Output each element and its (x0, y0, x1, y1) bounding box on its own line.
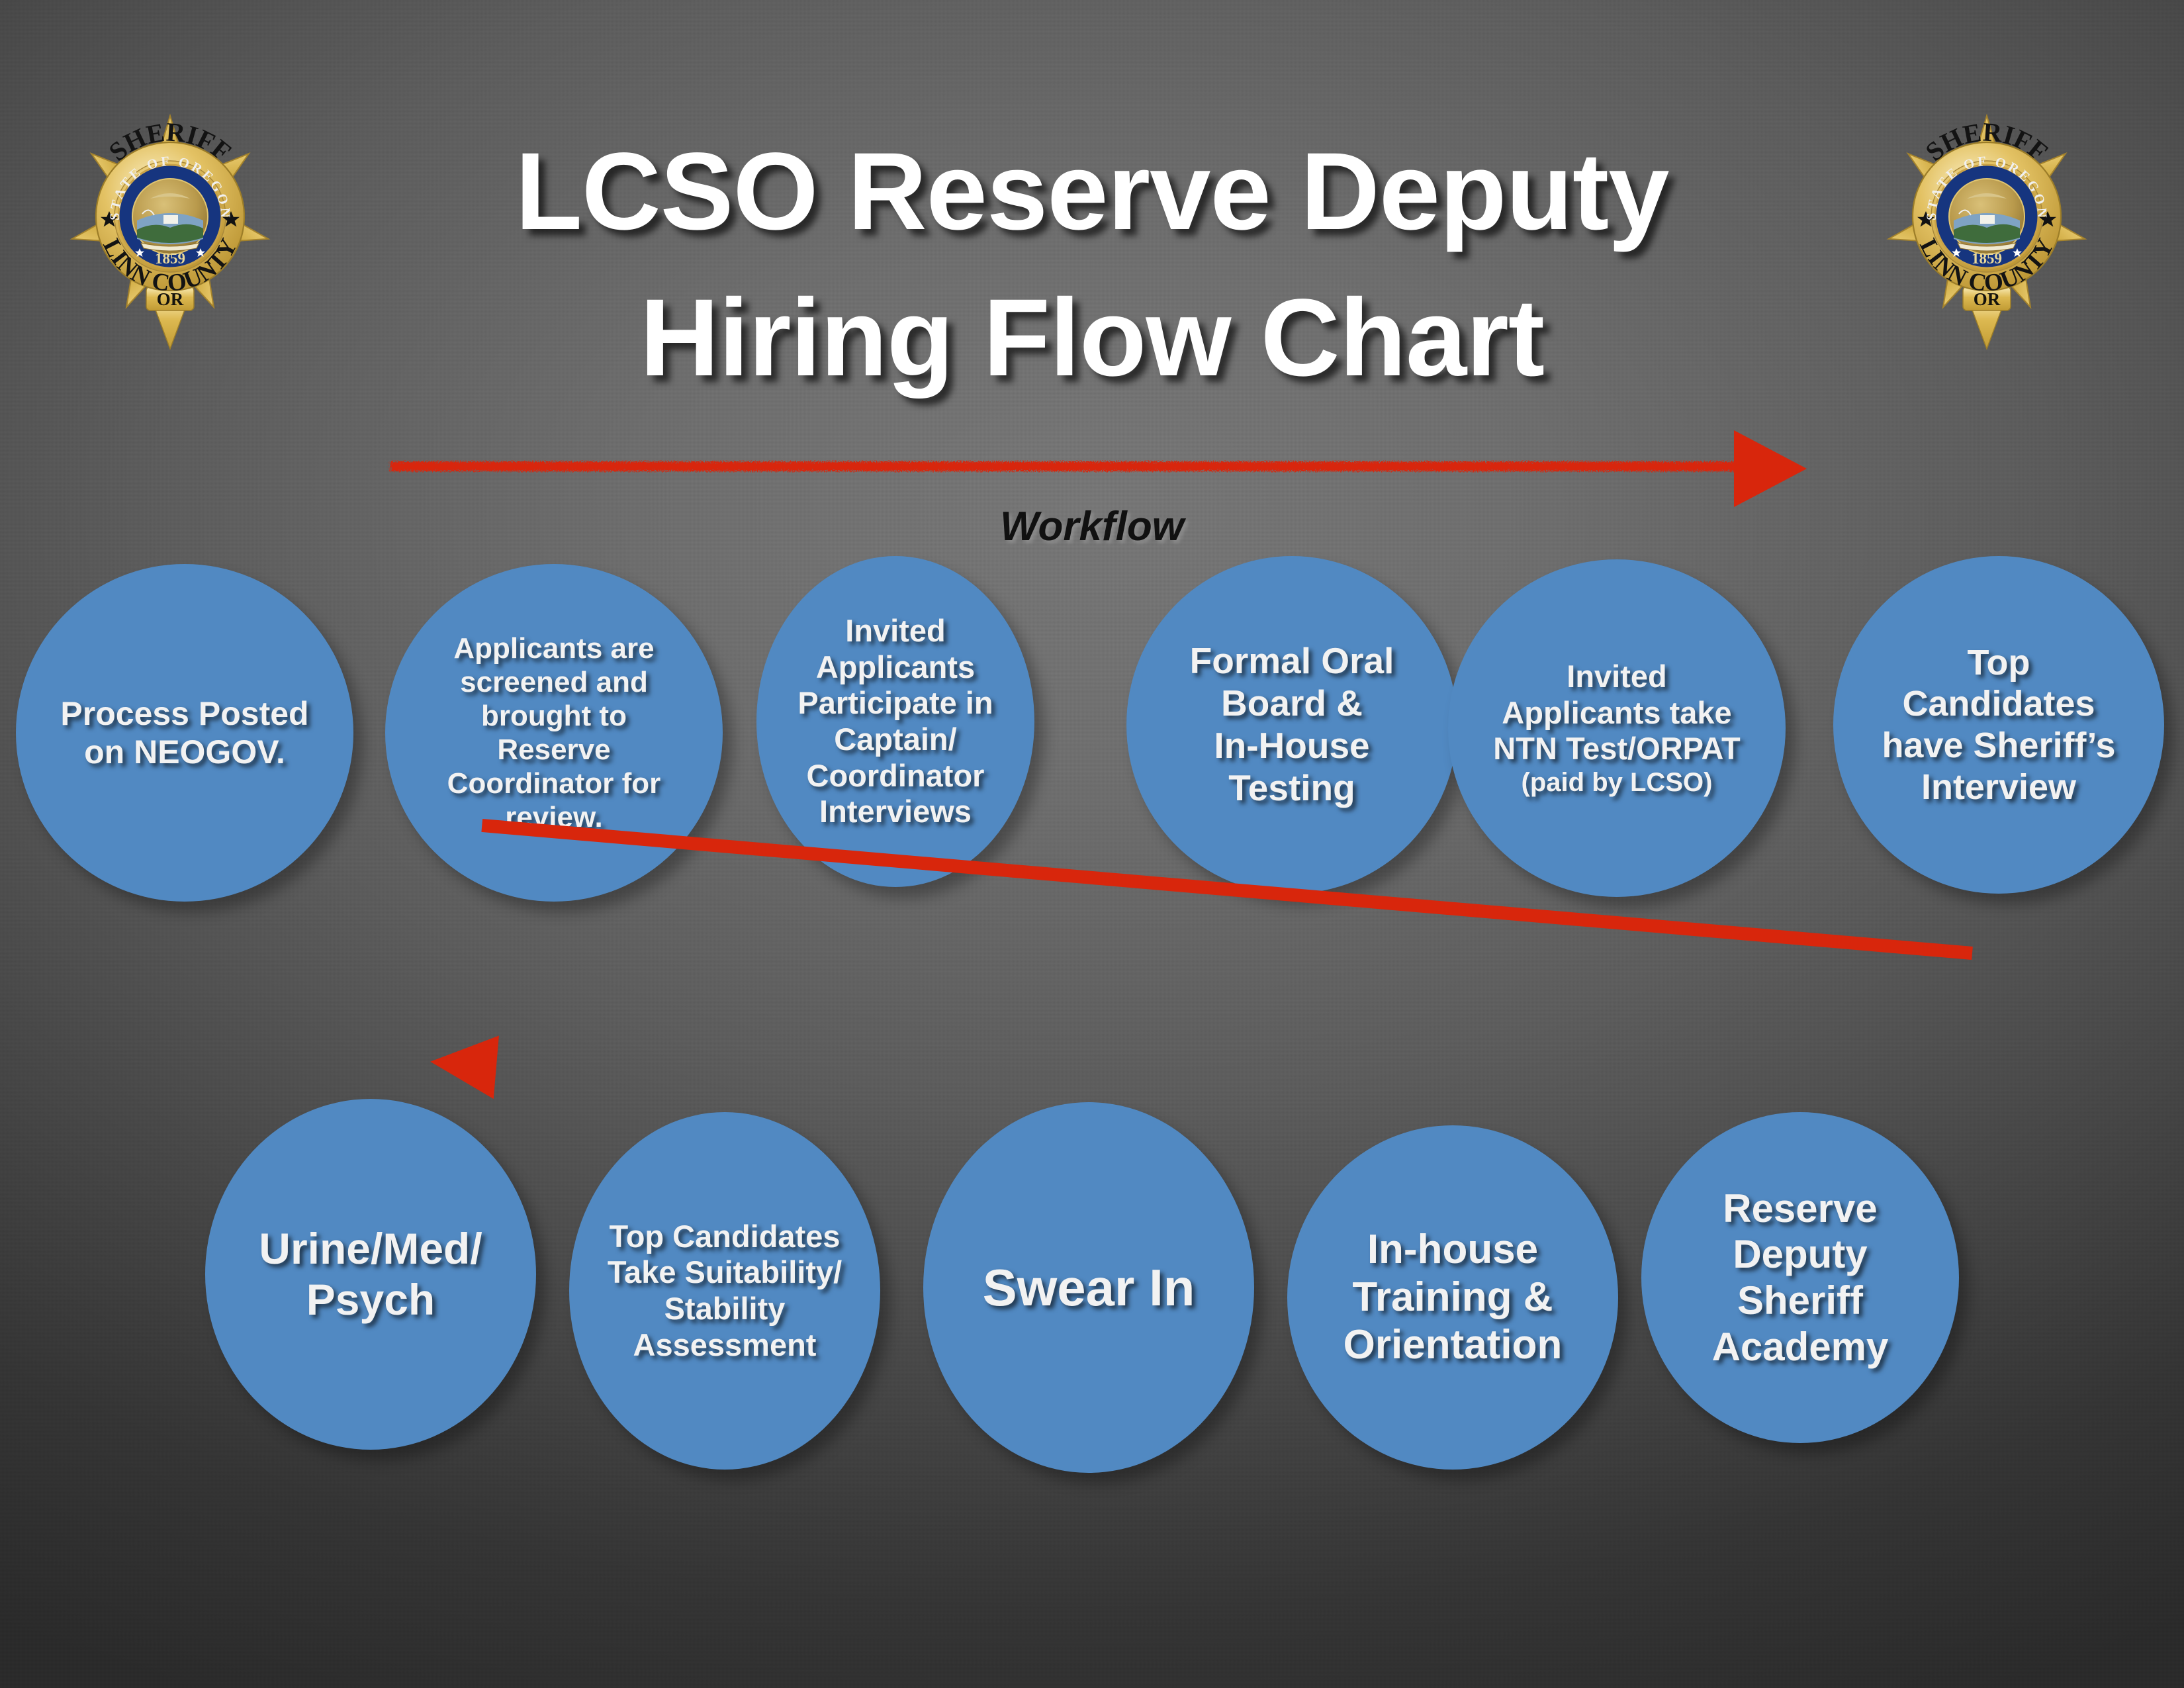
flow-node-4[interactable]: Formal Oral Board & In-House Testing (1126, 556, 1457, 894)
flow-node-11-label: Reserve Deputy Sheriff Academy (1648, 1186, 1952, 1370)
flow-node-8[interactable]: Top Candidates Take Suitability/ Stabili… (569, 1112, 880, 1470)
workflow-arrow-forward (390, 458, 1754, 473)
workflow-label: Workflow (0, 503, 2184, 550)
flowchart-canvas: OR (0, 0, 2184, 1688)
workflow-arrow-shaft (390, 461, 1754, 471)
flow-node-7-label: Urine/Med/ Psych (212, 1223, 529, 1325)
flow-node-5[interactable]: Invited Applicants take NTN Test/ORPAT (… (1448, 559, 1786, 897)
flow-node-7[interactable]: Urine/Med/ Psych (205, 1099, 536, 1450)
flow-node-10[interactable]: In-house Training & Orientation (1287, 1125, 1618, 1470)
flow-node-9[interactable]: Swear In (923, 1102, 1254, 1473)
flow-node-2[interactable]: Applicants are screened and brought to R… (385, 564, 723, 902)
flow-node-1[interactable]: Process Posted on NEOGOV. (16, 564, 353, 902)
flow-node-5-note: (paid by LCSO) (1461, 767, 1772, 798)
flow-node-3-label: Invited Applicants Participate in Captai… (756, 613, 1034, 829)
flow-node-5-main: Invited Applicants take NTN Test/ORPAT (1493, 659, 1740, 766)
flow-node-10-label: In-house Training & Orientation (1287, 1226, 1618, 1369)
flow-node-4-label: Formal Oral Board & In-House Testing (1140, 640, 1444, 809)
workflow-arrowhead-right (1734, 430, 1807, 507)
flow-node-2-label: Applicants are screened and brought to R… (405, 632, 703, 834)
flow-node-3[interactable]: Invited Applicants Participate in Captai… (756, 556, 1034, 887)
flow-node-6[interactable]: Top Candidates have Sheriff’s Interview (1833, 556, 2164, 894)
flow-node-8-label: Top Candidates Take Suitability/ Stabili… (569, 1219, 880, 1363)
workflow-arrowhead-left (428, 1030, 499, 1099)
page-title: LCSO Reserve Deputy Hiring Flow Chart (0, 119, 2184, 412)
flow-node-11[interactable]: Reserve Deputy Sheriff Academy (1641, 1112, 1959, 1443)
flow-node-5-label: Invited Applicants take NTN Test/ORPAT (… (1455, 623, 1779, 834)
flow-node-1-label: Process Posted on NEOGOV. (36, 694, 334, 771)
flow-node-9-label: Swear In (927, 1258, 1251, 1317)
flow-node-6-label: Top Candidates have Sheriff’s Interview (1840, 642, 2158, 808)
